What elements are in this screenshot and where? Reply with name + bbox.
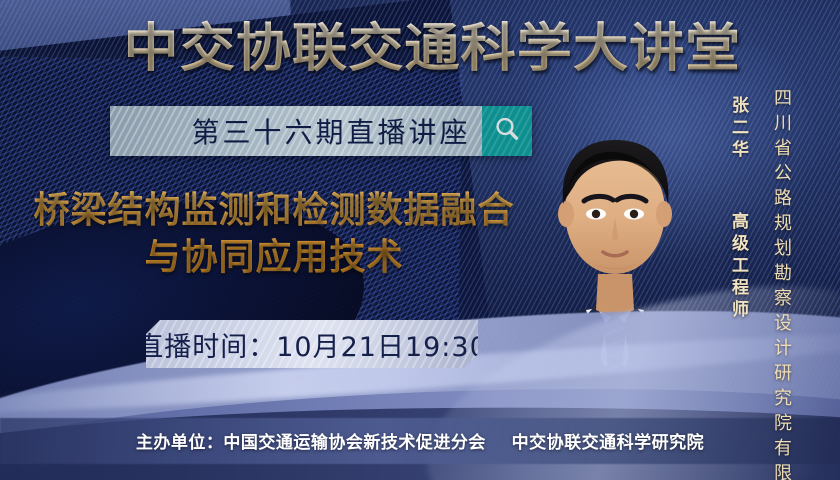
search-input[interactable]: 第三十六期直播讲座	[110, 106, 482, 156]
livestream-poster: 中交协联交通科学大讲堂 中交协联交通科学大讲堂 第三十六期直播讲座 桥梁结构监测…	[0, 0, 840, 480]
lecture-title: 桥梁结构监测和检测数据融合 与协同应用技术	[24, 188, 524, 282]
speaker-photo	[500, 62, 730, 437]
search-icon	[493, 115, 521, 148]
search-button[interactable]	[482, 106, 532, 156]
organizers-footer: 主办单位：中国交通运输协会新技术促进分会 中交协联交通科学研究院	[0, 425, 840, 455]
lecture-title-line-2: 与协同应用技术	[24, 235, 524, 282]
episode-search-bar[interactable]: 第三十六期直播讲座	[110, 106, 532, 156]
speaker-organization-vertical: 四川省公路规划勘察设计研究院有限公司	[768, 88, 794, 480]
page-title: 中交协联交通科学大讲堂	[128, 16, 738, 82]
lecture-title-line-1: 桥梁结构监测和检测数据融合	[24, 188, 524, 235]
broadcast-time-text: 直播时间：10月21日19:30	[146, 325, 478, 364]
speaker-name-vertical: 张二华 高级工程师	[726, 96, 751, 322]
broadcast-time-badge: 直播时间：10月21日19:30	[146, 320, 478, 368]
search-input-value: 第三十六期直播讲座	[111, 111, 480, 151]
